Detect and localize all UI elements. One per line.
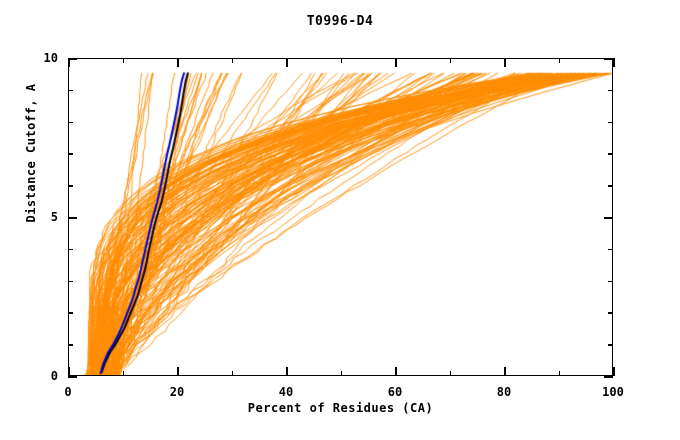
x-axis-tick xyxy=(232,58,234,63)
y-axis-label: Distance Cutoff, A xyxy=(24,28,38,278)
x-tick-label: 40 xyxy=(256,385,316,399)
x-tick-label: 60 xyxy=(365,385,425,399)
plot-canvas xyxy=(69,59,613,376)
x-axis-tick xyxy=(286,58,288,67)
x-axis-tick xyxy=(450,371,452,376)
x-tick-label: 100 xyxy=(583,385,643,399)
x-axis-tick xyxy=(613,367,615,376)
y-axis-tick xyxy=(608,281,613,283)
x-axis-tick xyxy=(395,58,397,67)
x-axis-tick xyxy=(504,58,506,67)
x-axis-tick xyxy=(559,371,561,376)
y-axis-tick xyxy=(68,281,73,283)
y-axis-tick xyxy=(68,344,73,346)
y-axis-tick xyxy=(608,90,613,92)
x-axis-tick xyxy=(341,371,343,376)
y-axis-tick xyxy=(604,376,613,378)
plot-frame xyxy=(68,58,613,376)
y-axis-tick xyxy=(68,312,73,314)
y-axis-tick xyxy=(68,153,73,155)
x-axis-tick xyxy=(395,367,397,376)
y-axis-tick xyxy=(608,153,613,155)
x-axis-tick xyxy=(341,58,343,63)
y-axis-tick xyxy=(604,217,613,219)
y-axis-tick xyxy=(608,344,613,346)
x-axis-tick xyxy=(450,58,452,63)
y-axis-tick xyxy=(608,312,613,314)
y-axis-tick xyxy=(608,122,613,124)
y-axis-tick xyxy=(68,90,73,92)
y-axis-tick xyxy=(68,185,73,187)
plot-area xyxy=(68,58,613,376)
y-axis-tick xyxy=(68,58,77,60)
x-axis-tick xyxy=(286,367,288,376)
y-axis-tick xyxy=(68,122,73,124)
x-tick-label: 0 xyxy=(38,385,98,399)
y-axis-tick xyxy=(68,376,77,378)
x-axis-tick xyxy=(123,58,125,63)
x-axis-tick xyxy=(177,58,179,67)
y-axis-tick xyxy=(68,249,73,251)
x-axis-tick xyxy=(559,58,561,63)
x-axis-tick xyxy=(177,367,179,376)
y-axis-tick xyxy=(608,249,613,251)
y-tick-label: 0 xyxy=(26,369,58,383)
chart-root: T0996-D4 0204060801000510 Distance Cutof… xyxy=(0,0,680,440)
x-axis-tick xyxy=(68,367,70,376)
chart-title: T0996-D4 xyxy=(0,14,680,29)
y-axis-tick xyxy=(68,217,77,219)
y-axis-tick xyxy=(608,185,613,187)
x-axis-tick xyxy=(504,367,506,376)
x-tick-label: 20 xyxy=(147,385,207,399)
y-axis-tick xyxy=(604,58,613,60)
x-axis-tick xyxy=(123,371,125,376)
x-axis-tick xyxy=(613,58,615,67)
x-axis-label: Percent of Residues (CA) xyxy=(68,401,613,415)
x-tick-label: 80 xyxy=(474,385,534,399)
x-axis-tick xyxy=(232,371,234,376)
